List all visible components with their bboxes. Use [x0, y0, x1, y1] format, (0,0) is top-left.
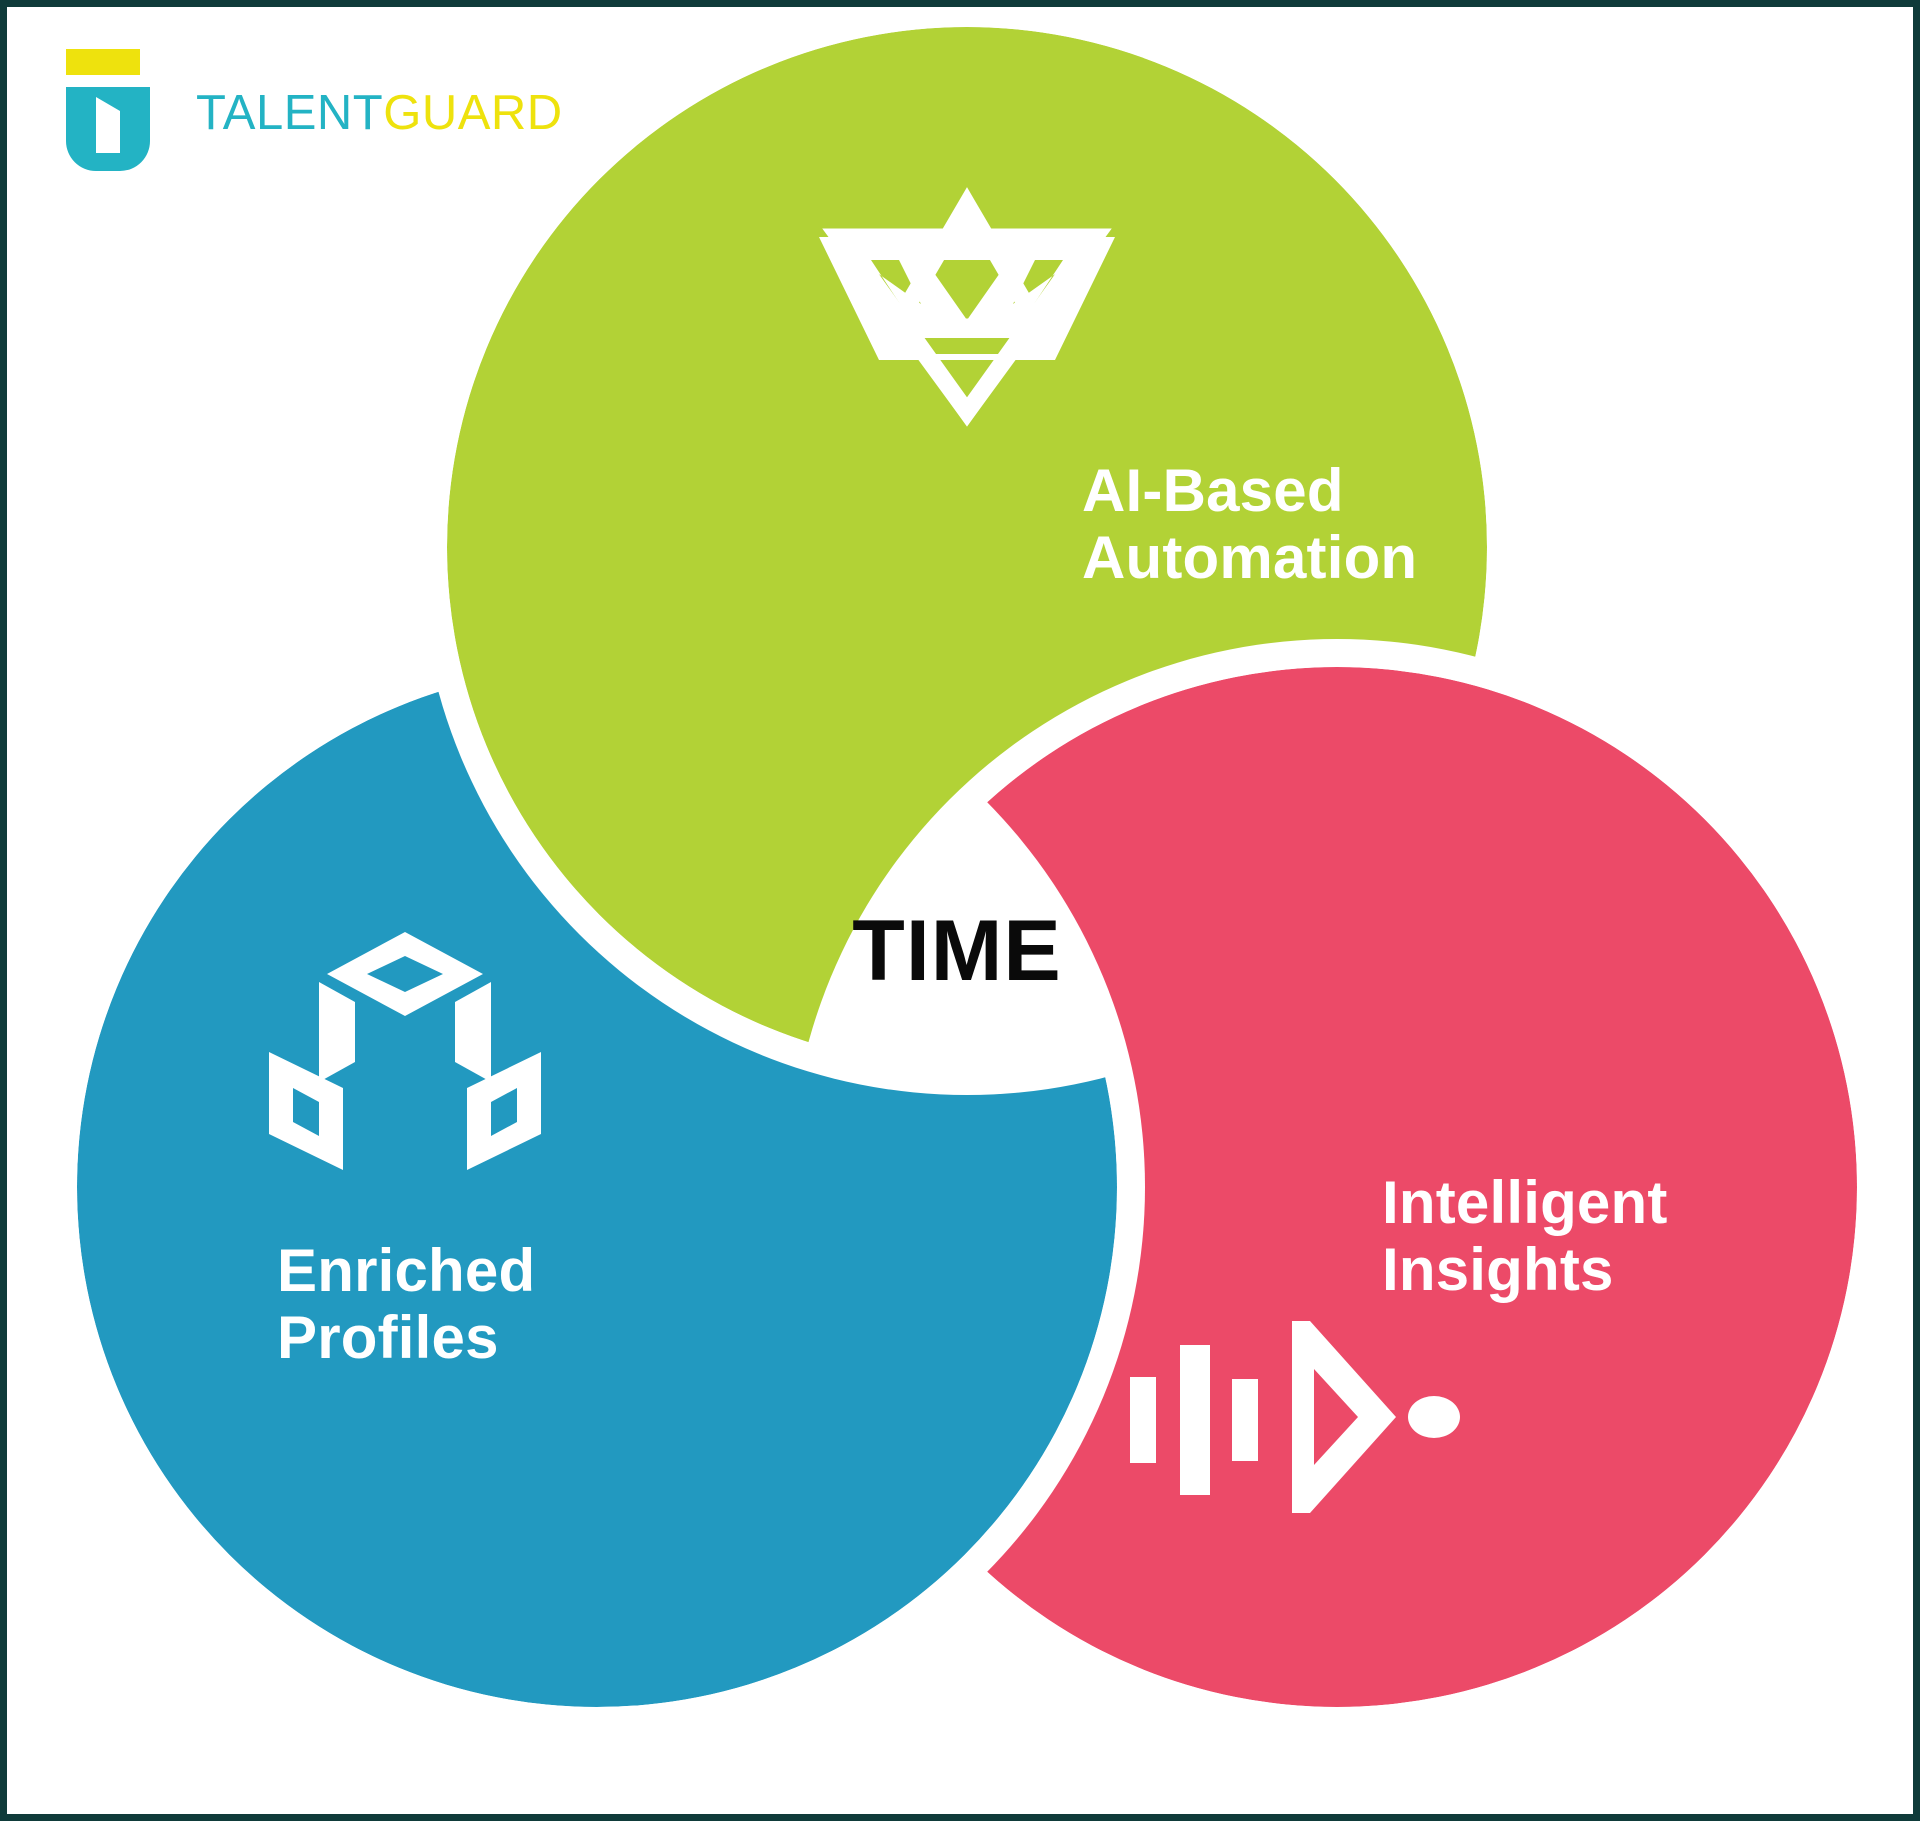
diagram-page: TALENTGUARD	[0, 0, 1920, 1821]
venn-label-intelligent-insights: Intelligent Insights	[1382, 1169, 1782, 1303]
venn-label-enriched-profiles: Enriched Profiles	[277, 1237, 677, 1371]
venn-label-ai-based-automation: AI-Based Automation	[1082, 457, 1482, 591]
venn-circle-blue[interactable]	[77, 667, 1117, 1707]
venn-center-label: TIME	[0, 908, 1917, 994]
